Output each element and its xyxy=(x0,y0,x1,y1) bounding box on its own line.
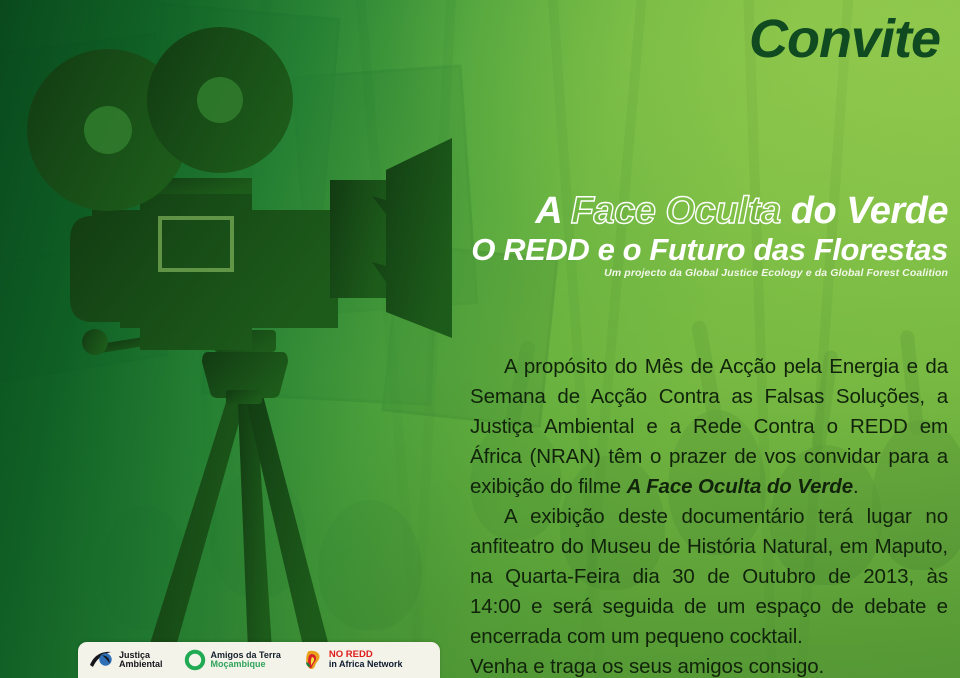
film-credit-line: Um projecto da Global Justice Ecology e … xyxy=(470,267,948,279)
poster-canvas: Convite A Face Oculta do Verde O REDD e … xyxy=(0,0,960,678)
body-paragraph-3: Venha e traga os seus amigos consigo. xyxy=(470,652,948,678)
invitation-body: A propósito do Mês de Acção pela Energia… xyxy=(470,352,948,678)
body-paragraph-1: A propósito do Mês de Acção pela Energia… xyxy=(470,352,948,502)
page-title-convite: Convite xyxy=(749,12,940,66)
logo-no-redd-line2: in Africa Network xyxy=(329,660,403,669)
logo-justica-ambiental: Justiça Ambiental xyxy=(88,649,163,671)
film-title-part-a: A xyxy=(535,190,571,232)
logo-amigos-da-terra-text: Amigos da Terra Moçambique xyxy=(211,651,281,670)
film-subtitle: O REDD e o Futuro das Florestas xyxy=(470,234,948,267)
logo-amigos-da-terra: Amigos da Terra Moçambique xyxy=(184,649,281,671)
title-block: A Face Oculta do Verde O REDD e o Futuro… xyxy=(470,192,948,279)
film-title-part-outline: Face Oculta xyxy=(571,190,781,232)
sponsor-logo-bar: Justiça Ambiental Amigos da Terra Moçamb… xyxy=(78,642,440,678)
logo-no-redd: NO REDD in Africa Network xyxy=(302,649,403,671)
green-ring-icon xyxy=(184,649,206,671)
film-title-main: A Face Oculta do Verde xyxy=(470,192,948,232)
body-paragraph-2: A exibição deste documentário terá lugar… xyxy=(470,502,948,652)
logo-justica-ambiental-text: Justiça Ambiental xyxy=(119,651,163,670)
ja-swoosh-icon xyxy=(88,649,114,671)
logo-justica-ambiental-line2: Ambiental xyxy=(119,660,163,669)
logo-no-redd-text: NO REDD in Africa Network xyxy=(329,650,403,669)
body-film-title-emphasis: A Face Oculta do Verde xyxy=(627,475,853,498)
film-title-part-b: do Verde xyxy=(781,190,948,232)
logo-amigos-da-terra-line2: Moçambique xyxy=(211,660,281,669)
body-paragraph-1-text-b: . xyxy=(853,475,859,498)
africa-flame-icon xyxy=(302,649,324,671)
